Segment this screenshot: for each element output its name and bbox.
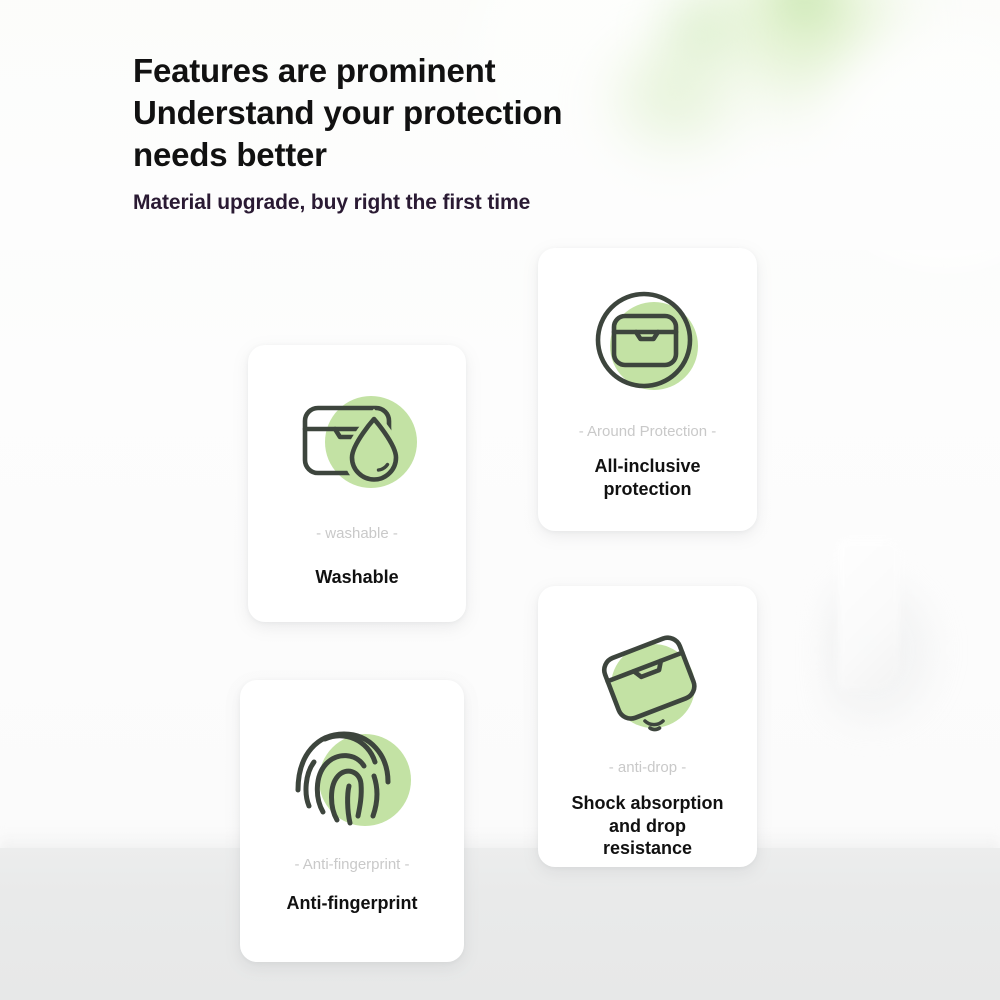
feature-card-anti-fingerprint[interactable]: - Anti-fingerprint - Anti-fingerprint [240,680,464,962]
case-with-water-drop-glyph [297,394,417,494]
feature-label: Shock absorption and drop resistance [571,792,723,860]
page-title: Features are prominent Understand your p… [133,50,753,177]
page-title-line-2: Understand your protection [133,94,562,131]
feature-label-line-3: resistance [603,838,692,858]
feature-label: Anti-fingerprint [287,892,418,915]
fingerprint-glyph [292,724,412,836]
feature-label-line-2: protection [604,479,692,499]
feature-caption: - Anti-fingerprint - [294,856,409,873]
feature-label-line-2: and drop [609,816,686,836]
background-floor [0,848,1000,1000]
feature-caption: - washable - [316,525,398,542]
feature-card-around-protection[interactable]: - Around Protection - All-inclusive prot… [538,248,757,531]
case-with-water-drop-icon [297,394,417,494]
page-subtitle: Material upgrade, buy right the first ti… [133,191,753,215]
feature-label: All-inclusive protection [594,455,700,500]
feature-label-line-1: Shock absorption [571,793,723,813]
background-object [838,540,900,690]
tilted-case-with-bounce-icon [588,622,708,740]
feature-caption: - anti-drop - [609,759,687,776]
feature-card-washable[interactable]: - washable - Washable [248,345,466,622]
page-title-line-3: needs better [133,136,327,173]
fingerprint-icon [292,724,412,836]
tilted-case-with-bounce-glyph [588,622,708,740]
case-in-circle-glyph [588,284,708,404]
feature-label-line-1: All-inclusive [594,456,700,476]
page-title-line-1: Features are prominent [133,52,495,89]
promo-banner: Features are prominent Understand your p… [0,0,1000,1000]
feature-label: Washable [315,566,398,589]
feature-card-anti-drop[interactable]: - anti-drop - Shock absorption and drop … [538,586,757,867]
header-block: Features are prominent Understand your p… [133,50,753,215]
case-in-circle-icon [588,284,708,404]
feature-caption: - Around Protection - [579,423,717,440]
